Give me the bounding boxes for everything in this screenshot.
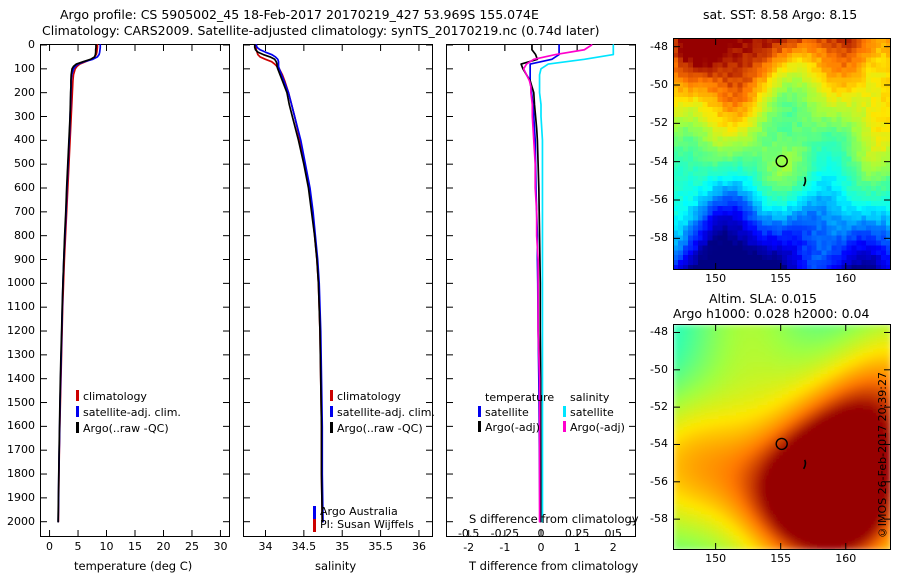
sla-latitude-labels: -48-50-52-54-56-58: [638, 0, 671, 580]
depth-axis-labels-temperature: 0100200300400500600700800900100011001200…: [0, 0, 40, 580]
depth-tick-label: 400: [0, 133, 35, 146]
figure-title-line2: Climatology: CARS2009. Satellite-adjuste…: [42, 23, 599, 38]
salinity-tick-label: 35: [324, 540, 360, 553]
temperature-difference-axis-label: T difference from climatology: [469, 559, 638, 573]
depth-tick-label: 800: [0, 229, 35, 242]
legend-swatch-argo-raw: [76, 422, 79, 433]
depth-tick-label: 1900: [0, 491, 35, 504]
difference-legend-salinity: salinity satellite Argo(-adj): [563, 391, 625, 434]
copyright-credit: ©IMOS 26-Feb-2017 20:39:27: [876, 372, 889, 539]
legend-item-sal-satellite: satellite: [563, 406, 625, 419]
attribution-block: Argo Australia PI: Susan Wijffels: [313, 505, 414, 531]
legend-label-argo-raw: Argo(..raw -QC): [83, 422, 169, 435]
depth-tick-label: 2000: [0, 515, 35, 528]
temperature-axis-label: temperature (deg C): [74, 559, 192, 573]
s-difference-tick-label: 0.25: [557, 527, 597, 540]
temperature-tick-label: 20: [151, 540, 175, 553]
sst-longitude-labels: 150155160: [673, 272, 891, 288]
legend-label-satellite-adj-clim-sal: satellite-adj. clim.: [337, 406, 435, 419]
salinity-difference-axis-label: S difference from climatology: [469, 512, 639, 526]
legend-item-temp-argo: Argo(-adj): [478, 421, 554, 434]
attribution-bar-blue: [313, 506, 316, 519]
sla-lon-label: 150: [700, 552, 732, 565]
legend-swatch-sal-argo: [563, 421, 566, 432]
t-difference-tick-label: -2: [455, 541, 483, 554]
difference-xtick-labels-bottom: -2-1012: [446, 541, 636, 557]
sst-lon-label: 155: [765, 272, 797, 285]
s-difference-tick-label: 0.5: [593, 527, 633, 540]
legend-swatch-sal-satellite: [563, 406, 566, 417]
t-difference-tick-label: -1: [491, 541, 519, 554]
depth-tick-label: 900: [0, 253, 35, 266]
depth-tick-label: 1400: [0, 372, 35, 385]
depth-tick-label: 600: [0, 181, 35, 194]
argo-profile-figure: Argo profile: CS 5905002_45 18-Feb-2017 …: [0, 0, 900, 580]
legend-swatch-temp-argo: [478, 421, 481, 432]
sla-map-title-line2: Argo h1000: 0.028 h2000: 0.04: [673, 306, 869, 321]
t-difference-tick-label: 2: [599, 541, 627, 554]
temperature-xtick-labels: 051015202530: [40, 540, 230, 560]
sla-lat-label: -54: [638, 437, 668, 450]
depth-tick-label: 100: [0, 62, 35, 75]
legend-swatch-satellite-adj-clim-sal: [330, 406, 333, 417]
s-difference-tick-label: -0.5: [449, 527, 489, 540]
legend-item-satellite-adj-clim-sal: satellite-adj. clim.: [330, 406, 435, 419]
legend-swatch-climatology: [76, 390, 79, 401]
legend-label-satellite-adj-clim: satellite-adj. clim.: [83, 406, 181, 419]
sla-lon-label: 160: [830, 552, 862, 565]
temperature-plot-svg: [40, 44, 230, 537]
depth-tick-label: 1800: [0, 467, 35, 480]
sla-lat-label: -52: [638, 400, 668, 413]
salinity-tick-label: 34.5: [286, 540, 322, 553]
legend-item-argo-raw: Argo(..raw -QC): [76, 422, 181, 435]
legend-header-temperature: temperature: [478, 391, 554, 404]
difference-plot-svg: [446, 44, 636, 537]
depth-tick-label: 200: [0, 86, 35, 99]
s-difference-tick-label: 0: [521, 527, 561, 540]
temperature-tick-label: 15: [123, 540, 147, 553]
salinity-axis-label: salinity: [315, 559, 356, 573]
depth-tick-label: 1000: [0, 276, 35, 289]
sla-lat-label: -48: [638, 325, 668, 338]
legend-item-climatology-sal: climatology: [330, 390, 435, 403]
legend-item-argo-raw-sal: Argo(..raw -QC): [330, 422, 435, 435]
sla-lat-label: -50: [638, 363, 668, 376]
sst-map-svg: [673, 38, 891, 270]
depth-tick-label: 500: [0, 157, 35, 170]
difference-panel[interactable]: [446, 44, 636, 537]
depth-tick-label: 0: [0, 38, 35, 51]
depth-tick-label: 1200: [0, 324, 35, 337]
legend-item-temp-satellite: satellite: [478, 406, 554, 419]
legend-swatch-argo-raw-sal: [330, 422, 333, 433]
legend-label-temp-satellite: satellite: [485, 406, 529, 419]
sla-longitude-labels: 150155160: [673, 552, 891, 568]
depth-tick-label: 1500: [0, 396, 35, 409]
salinity-tick-label: 34: [247, 540, 283, 553]
salinity-legend: climatology satellite-adj. clim. Argo(..…: [330, 390, 435, 435]
legend-label-argo-raw-sal: Argo(..raw -QC): [337, 422, 423, 435]
salinity-panel[interactable]: [243, 44, 433, 537]
figure-title-line1: Argo profile: CS 5905002_45 18-Feb-2017 …: [60, 7, 539, 22]
salinity-tick-label: 35.5: [363, 540, 399, 553]
depth-tick-label: 1600: [0, 419, 35, 432]
t-difference-tick-label: 0: [527, 541, 555, 554]
sla-map-title-line1: Altim. SLA: 0.015: [709, 291, 817, 306]
legend-label-climatology-sal: climatology: [337, 390, 401, 403]
legend-item-satellite-adj-clim: satellite-adj. clim.: [76, 406, 181, 419]
difference-legend-temperature: temperature satellite Argo(-adj): [478, 391, 554, 434]
temperature-tick-label: 5: [66, 540, 90, 553]
legend-swatch-temp-satellite: [478, 406, 481, 417]
temperature-tick-label: 25: [180, 540, 204, 553]
depth-tick-label: 300: [0, 110, 35, 123]
temperature-tick-label: 30: [208, 540, 232, 553]
sst-lon-label: 160: [830, 272, 862, 285]
s-difference-tick-label: -0.25: [485, 527, 525, 540]
temperature-panel[interactable]: [40, 44, 230, 537]
sla-lon-label: 155: [765, 552, 797, 565]
sst-lon-label: 150: [700, 272, 732, 285]
depth-tick-label: 700: [0, 205, 35, 218]
depth-tick-label: 1300: [0, 348, 35, 361]
depth-tick-label: 1700: [0, 443, 35, 456]
salinity-plot-svg: [243, 44, 433, 537]
temperature-legend: climatology satellite-adj. clim. Argo(..…: [76, 390, 181, 435]
sla-map-panel[interactable]: [673, 324, 891, 550]
legend-label-climatology: climatology: [83, 390, 147, 403]
attribution-org: Argo Australia: [320, 505, 414, 518]
legend-label-temp-argo: Argo(-adj): [485, 421, 540, 434]
temperature-tick-label: 0: [38, 540, 62, 553]
legend-header-salinity: salinity: [563, 391, 625, 404]
salinity-xtick-labels: 3434.53535.536: [243, 540, 433, 560]
t-difference-tick-label: 1: [563, 541, 591, 554]
attribution-pi: PI: Susan Wijffels: [320, 518, 414, 531]
temperature-tick-label: 10: [95, 540, 119, 553]
legend-item-sal-argo: Argo(-adj): [563, 421, 625, 434]
legend-label-sal-argo: Argo(-adj): [570, 421, 625, 434]
legend-swatch-climatology-sal: [330, 390, 333, 401]
salinity-tick-label: 36: [401, 540, 437, 553]
sla-lat-label: -58: [638, 512, 668, 525]
sst-map-panel[interactable]: [673, 38, 891, 270]
legend-swatch-satellite-adj-clim: [76, 406, 79, 417]
sla-map-svg: [673, 324, 891, 550]
legend-label-sal-satellite: satellite: [570, 406, 614, 419]
sla-lat-label: -56: [638, 475, 668, 488]
depth-tick-label: 1100: [0, 300, 35, 313]
legend-item-climatology: climatology: [76, 390, 181, 403]
sst-map-title: sat. SST: 8.58 Argo: 8.15: [703, 7, 857, 22]
attribution-bar-red: [313, 519, 316, 532]
